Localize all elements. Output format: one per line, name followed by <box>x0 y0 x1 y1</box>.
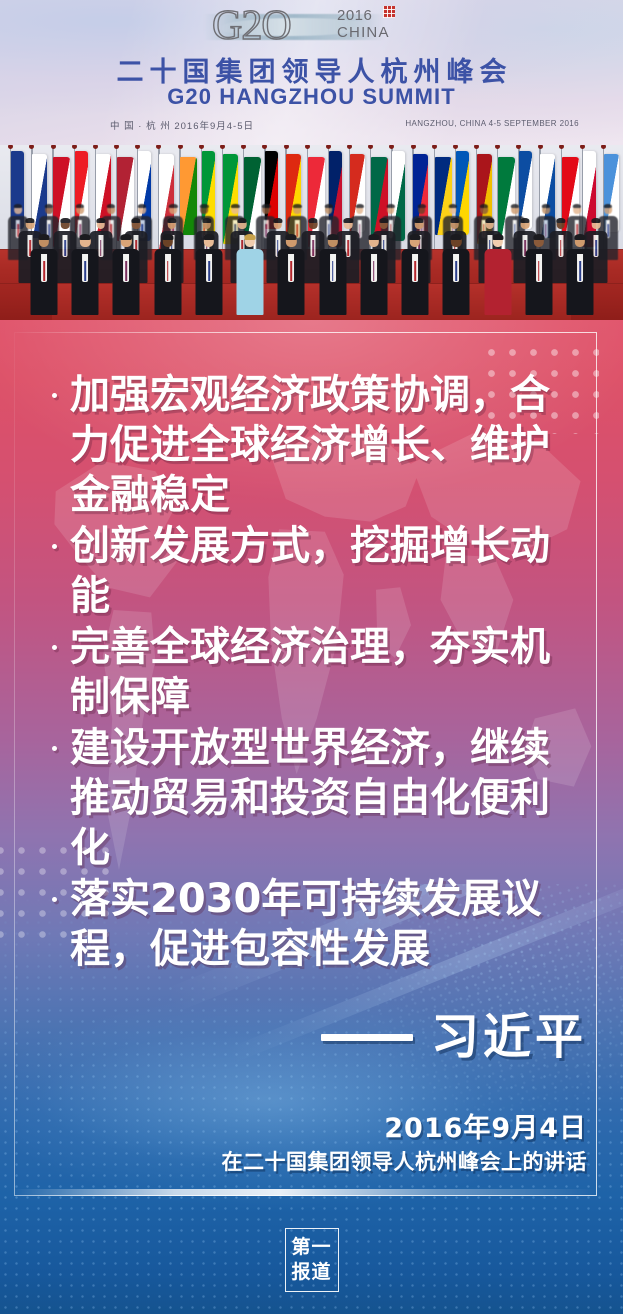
leader-hair <box>14 204 22 208</box>
leader-hair <box>203 234 214 240</box>
leader-hair <box>449 204 457 208</box>
leader-tie <box>332 261 334 281</box>
key-point-item: 落实2030年可持续发展议程，促进包容性发展 <box>44 874 584 974</box>
flag-finial <box>72 145 77 149</box>
leader-tie <box>456 261 458 281</box>
leader-hair <box>169 204 177 208</box>
flag-finial <box>411 145 416 149</box>
flag-finial <box>51 145 56 149</box>
key-point-item: 完善全球经济治理，夯实机制保障 <box>44 622 584 722</box>
leader-body <box>237 249 264 315</box>
leader-tie <box>291 261 293 281</box>
leader-hair <box>262 204 270 208</box>
leader-hair <box>591 218 600 223</box>
leader-figure <box>360 233 387 315</box>
brand-logo: 第一 报道 <box>285 1228 339 1292</box>
leader-hair <box>415 218 424 223</box>
leader-hair <box>556 218 565 223</box>
leader-hair <box>533 234 544 240</box>
leader-hair <box>238 218 247 223</box>
leader-hair <box>604 204 612 208</box>
leader-tie <box>126 261 128 281</box>
g20-logo-mark: G2O <box>212 3 291 49</box>
flag-finial <box>559 145 564 149</box>
quote-panel: 加强宏观经济政策协调，合力促进全球经济增长、维护金融稳定创新发展方式，挖掘增长动… <box>0 320 623 1314</box>
flag-finial <box>284 145 289 149</box>
leader-tie <box>208 261 210 281</box>
leader-figure <box>567 233 594 315</box>
leader-hair <box>492 234 503 240</box>
leader-hair <box>45 204 53 208</box>
speaker-name: 习近平 <box>431 1010 587 1064</box>
g20-logo-year: 2016 <box>337 7 372 24</box>
leader-hair <box>138 204 146 208</box>
flag-finial <box>305 145 310 149</box>
leader-hair <box>511 204 519 208</box>
leader-hair <box>96 218 105 223</box>
leader-hair <box>386 204 394 208</box>
leader-hair <box>410 234 421 240</box>
key-points-list: 加强宏观经济政策协调，合力促进全球经济增长、维护金融稳定创新发展方式，挖掘增长动… <box>44 370 584 975</box>
leader-hair <box>542 204 550 208</box>
leader-tie <box>100 240 102 256</box>
em-dash-icon <box>321 1034 413 1041</box>
flag-finial <box>389 145 394 149</box>
leader-tie <box>312 240 314 256</box>
leader-hair <box>286 234 297 240</box>
leader-figure <box>237 233 264 315</box>
leader-figure <box>195 233 222 315</box>
flag-finial <box>199 145 204 149</box>
summit-subtitle-cn: 中 国 · 杭 州 2016年9月4-5日 <box>110 118 254 132</box>
leader-tie <box>538 261 540 281</box>
leader-hair <box>121 234 132 240</box>
leader-tie <box>65 240 67 256</box>
key-point-item: 建设开放型世界经济，继续推动贸易和投资自由化便利化 <box>44 723 584 873</box>
leader-hair <box>450 218 459 223</box>
leader-hair <box>107 204 115 208</box>
leader-figure <box>113 233 140 315</box>
leader-hair <box>308 218 317 223</box>
brand-line-2: 报道 <box>291 1260 331 1285</box>
flag-finial <box>368 145 373 149</box>
leader-hair <box>451 234 462 240</box>
flag-finial <box>538 145 543 149</box>
leader-hair <box>368 234 379 240</box>
speech-date: 2016年9月4日 <box>384 1106 587 1145</box>
leader-hair <box>76 204 84 208</box>
leader-hair <box>80 234 91 240</box>
leader-hair <box>327 234 338 240</box>
leaders-group <box>0 203 623 323</box>
leader-body <box>484 249 511 315</box>
flag-finial <box>220 145 225 149</box>
flag-finial <box>241 145 246 149</box>
leader-figure <box>484 233 511 315</box>
leader-hair <box>418 204 426 208</box>
leader-figure <box>154 233 181 315</box>
flag-finial <box>156 145 161 149</box>
horizon-shine-line <box>0 1189 623 1196</box>
leader-hair <box>324 204 332 208</box>
g20-logo-country: CHINA <box>337 24 390 41</box>
flag-finial <box>326 145 331 149</box>
leader-figure <box>278 233 305 315</box>
leader-tie <box>348 240 350 256</box>
leader-hair <box>293 204 301 208</box>
leader-hair <box>61 218 70 223</box>
flag-finial <box>580 145 585 149</box>
flag-finial <box>114 145 119 149</box>
flag-finial <box>29 145 34 149</box>
g20-logo: G2O 2016 CHINA <box>0 4 623 52</box>
leader-tie <box>43 261 45 281</box>
flag-finial <box>474 145 479 149</box>
flag-finial <box>347 145 352 149</box>
flag-finial <box>8 145 13 149</box>
leader-hair <box>521 218 530 223</box>
leader-hair <box>167 218 176 223</box>
poster: G2O 2016 CHINA 二十国集团领导人杭州峰会 G20 HANGZHOU… <box>0 0 623 1314</box>
leader-tie <box>560 240 562 256</box>
summit-title-en: G20 HANGZHOU SUMMIT <box>0 84 623 110</box>
flag-finial <box>495 145 500 149</box>
leader-hair <box>25 218 34 223</box>
leader-hair <box>485 218 494 223</box>
leader-hair <box>574 234 585 240</box>
leader-hair <box>38 234 49 240</box>
speaker-signature: 习近平 <box>321 1010 587 1064</box>
flag-finial <box>135 145 140 149</box>
flag-finial <box>432 145 437 149</box>
leader-figure <box>319 233 346 315</box>
leader-tie <box>167 261 169 281</box>
flag-finial <box>262 145 267 149</box>
leader-hair <box>344 218 353 223</box>
leaders-family-photo <box>0 145 623 323</box>
flag-finial <box>93 145 98 149</box>
leader-hair <box>480 204 488 208</box>
key-point-item: 创新发展方式，挖掘增长动能 <box>44 521 584 621</box>
summit-subtitle-en: HANGZHOU, CHINA 4-5 SEPTEMBER 2016 <box>405 119 579 128</box>
brand-line-1: 第一 <box>291 1235 331 1260</box>
leader-hair <box>355 204 363 208</box>
speech-source: 在二十国集团领导人杭州峰会上的讲话 <box>222 1146 588 1176</box>
leader-tie <box>373 261 375 281</box>
leader-hair <box>200 204 208 208</box>
leader-hair <box>231 204 239 208</box>
leader-hair <box>273 218 282 223</box>
leader-tie <box>579 261 581 281</box>
leader-hair <box>573 204 581 208</box>
leader-figure <box>443 233 470 315</box>
leader-figure <box>31 233 58 315</box>
leader-hair <box>162 234 173 240</box>
leader-tie <box>595 240 597 256</box>
leader-hair <box>202 218 211 223</box>
leader-figure <box>72 233 99 315</box>
leader-tie <box>84 261 86 281</box>
leader-tie <box>414 261 416 281</box>
chinese-seal-icon <box>383 6 395 18</box>
leader-hair <box>132 218 141 223</box>
key-point-item: 加强宏观经济政策协调，合力促进全球经济增长、维护金融稳定 <box>44 370 584 520</box>
summit-header-banner: G2O 2016 CHINA 二十国集团领导人杭州峰会 G20 HANGZHOU… <box>0 0 623 145</box>
leader-hair <box>245 234 256 240</box>
flag-finial <box>178 145 183 149</box>
leader-figure <box>525 233 552 315</box>
leader-figure <box>402 233 429 315</box>
flag-finial <box>601 145 606 149</box>
flag-finial <box>516 145 521 149</box>
leader-hair <box>379 218 388 223</box>
flag-finial <box>453 145 458 149</box>
